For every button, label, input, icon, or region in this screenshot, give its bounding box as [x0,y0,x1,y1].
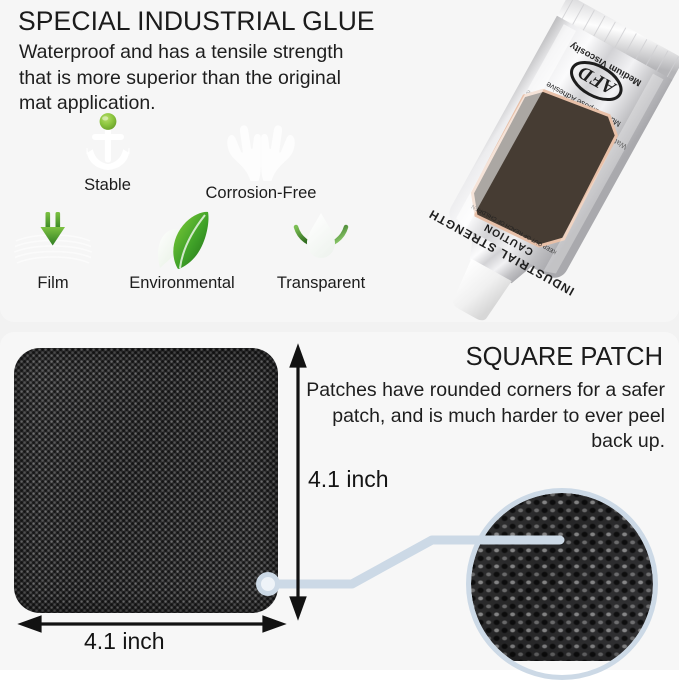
glue-tube-image: AFD Medium Viscosity Multi-Purpose Adhes… [398,0,679,322]
infographic-page: SPECIAL INDUSTRIAL GLUE Waterproof and h… [0,0,679,670]
vertical-dimension-label: 4.1 inch [308,466,389,493]
down-arrow-waves-icon [5,210,101,272]
feature-film-label: Film [5,274,101,293]
feature-stable: Stable [60,112,155,195]
feature-film: Film [5,210,101,293]
anchor-icon [60,112,155,174]
feature-transparent-label: Transparent [256,274,386,293]
feature-transparent: Transparent [256,210,386,293]
feature-stable-label: Stable [60,176,155,195]
water-drop-icon [256,210,386,272]
fabric-zoom-circle [466,488,658,680]
feature-environmental: Environmental [104,210,260,293]
glue-description: Waterproof and has a tensile strength th… [19,40,349,117]
feature-corrosion-free-label: Corrosion-Free [186,184,336,203]
patch-title: SQUARE PATCH [466,343,663,372]
glue-panel: SPECIAL INDUSTRIAL GLUE Waterproof and h… [0,0,679,322]
hands-icon [186,120,336,182]
feature-icon-grid: Stable Corrosion-Free [0,112,400,312]
square-patch-swatch [14,348,278,613]
leaf-icon [104,210,260,272]
glue-title: SPECIAL INDUSTRIAL GLUE [18,6,375,37]
feature-corrosion-free: Corrosion-Free [186,120,336,203]
fabric-zoom-ring [466,488,658,680]
horizontal-dimension-label: 4.1 inch [84,628,165,655]
patch-description: Patches have rounded corners for a safer… [293,378,665,455]
feature-environmental-label: Environmental [104,274,260,293]
